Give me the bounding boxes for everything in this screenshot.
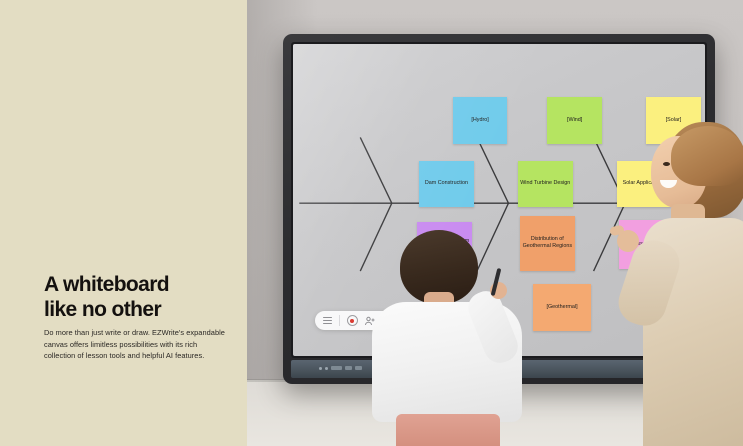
student-pants <box>396 414 500 446</box>
classroom-scene: [Hydro]Dam ConstructionTypes of tidal st… <box>247 0 743 446</box>
page-title: A whiteboard like no other <box>44 272 244 322</box>
teacher-eye <box>663 162 670 166</box>
headline-line-2: like no other <box>44 297 244 322</box>
sticky-note[interactable]: Dam Construction <box>419 161 474 208</box>
body-copy: Do more than just write or draw. EZWrite… <box>44 327 230 362</box>
sticky-note[interactable]: [Hydro] <box>453 97 508 144</box>
student-figure <box>372 230 522 446</box>
toolbar-divider <box>339 315 340 326</box>
copy-panel: A whiteboard like no other Do more than … <box>0 0 247 446</box>
sticky-note[interactable]: [Wind] <box>547 97 602 144</box>
menu-icon[interactable] <box>321 315 333 327</box>
promo-page: A whiteboard like no other Do more than … <box>0 0 743 446</box>
io-port-panel <box>319 366 362 370</box>
headline-line-1: A whiteboard <box>44 273 169 296</box>
record-icon[interactable] <box>346 315 358 327</box>
sticky-note[interactable]: Wind Turbine Design <box>518 161 573 208</box>
sticky-note[interactable]: [Geothermal] <box>533 284 592 331</box>
teacher-figure <box>643 122 743 446</box>
teacher-hair-front <box>671 126 743 186</box>
sticky-note[interactable]: Distribution of Geothermal Regions <box>520 216 575 271</box>
